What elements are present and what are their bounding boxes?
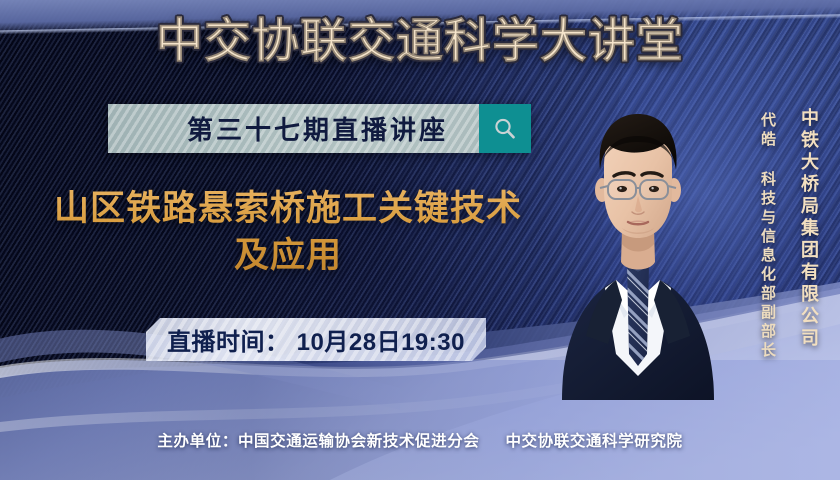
speaker-organization: 中铁大桥局集团有限公司 [796, 108, 822, 350]
session-label: 第三十七期直播讲座 [139, 110, 448, 147]
live-time-badge: 直播时间： 10月28日19:30 [146, 318, 486, 361]
footer-org-2: 中交协联交通科学研究院 [505, 433, 682, 450]
lecture-topic-line2: 及应用 [18, 233, 558, 280]
search-button[interactable] [479, 104, 531, 153]
footer-prefix: 主办单位： [157, 433, 238, 450]
speaker-portrait [552, 104, 724, 400]
lecture-topic-line1: 山区铁路悬索桥施工关键技术 [18, 186, 558, 233]
footer-organizers: 主办单位：中国交通运输协会新技术促进分会中交协联交通科学研究院 [0, 429, 840, 451]
speaker-name-role: 代皓 科技与信息化部副部长 [757, 112, 778, 361]
session-bar: 第三十七期直播讲座 [108, 104, 531, 153]
live-time-text: 直播时间： 10月28日19:30 [167, 322, 465, 357]
poster-canvas: 中交协联交通科学大讲堂 第三十七期直播讲座 山区铁路悬索桥施工关键技术 及应用 [0, 0, 840, 480]
page-title: 中交协联交通科学大讲堂 [0, 17, 840, 64]
search-icon [492, 116, 518, 142]
session-label-box: 第三十七期直播讲座 [108, 104, 479, 153]
lecture-topic: 山区铁路悬索桥施工关键技术 及应用 [18, 186, 558, 279]
footer-org-1: 中国交通运输协会新技术促进分会 [238, 433, 480, 450]
